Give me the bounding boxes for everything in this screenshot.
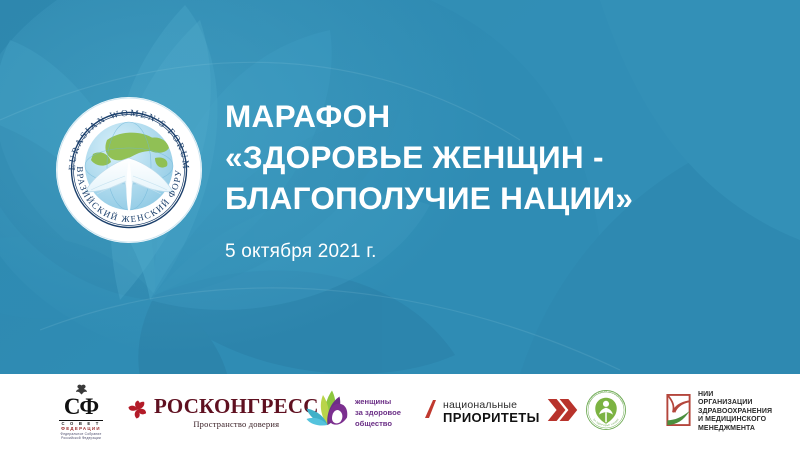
nii-line2: ОРГАНИЗАЦИИ [698, 399, 772, 408]
partner-logo-women-for-healthy-society: женщины за здоровое общество [305, 374, 401, 450]
partner-logo-nii-health-organization: НИИ ОРГАНИЗАЦИИ ЗДРАВООХРАНЕНИЯ И МЕДИЦИ… [665, 374, 772, 450]
partner-logo-national-priorities: национальные ПРИОРИТЕТЫ [425, 374, 579, 450]
red-slash-icon [425, 399, 437, 426]
title-line-3: БЛАГОПОЛУЧИЕ НАЦИИ» [225, 178, 765, 219]
partner-logo-council-of-federation: СФ С О В Е Т ФЕДЕРАЦИИ Федеральное Собра… [42, 374, 120, 450]
partner-logo-green-association: НАЦИОНАЛЬНАЯ АССОЦИАЦИЯ ЗА ЗДОРОВЬЕ НАЦИ… [583, 374, 629, 450]
open-book-leaf-icon [665, 393, 692, 432]
avatar: EURASIAN WOMEN'S FORUM ЕВРАЗИЙСКИЙ ЖЕНСК… [55, 96, 203, 244]
nii-line3: ЗДРАВООХРАНЕНИЯ [698, 408, 772, 417]
hero-background: EURASIAN WOMEN'S FORUM ЕВРАЗИЙСКИЙ ЖЕНСК… [0, 0, 800, 374]
women-society-line1: женщины [355, 396, 401, 407]
partner-logo-bar: СФ С О В Е Т ФЕДЕРАЦИИ Федеральное Собра… [0, 374, 800, 450]
roscongress-title: РОСКОНГРЕСС [154, 394, 319, 418]
green-circular-emblem-icon: НАЦИОНАЛЬНАЯ АССОЦИАЦИЯ ЗА ЗДОРОВЬЕ НАЦИ… [583, 387, 629, 438]
women-society-line2: за здоровое [355, 407, 401, 418]
roscongress-tagline: Пространство доверия [154, 420, 319, 429]
event-date: 5 октября 2021 г. [225, 241, 765, 263]
presentation-slide: EURASIAN WOMEN'S FORUM ЕВРАЗИЙСКИЙ ЖЕНСК… [0, 0, 800, 450]
title-line-1: МАРАФОН [225, 96, 765, 137]
council-of-federation-line2: ФЕДЕРАЦИИ [59, 427, 103, 431]
national-priorities-line2: ПРИОРИТЕТЫ [443, 411, 540, 424]
nii-line5: МЕНЕДЖМЕНТА [698, 425, 772, 434]
nii-line4: И МЕДИЦИНСКОГО [698, 416, 772, 425]
council-of-federation-monogram: СФ [59, 395, 103, 418]
roscongress-pinwheel-icon [128, 400, 147, 424]
council-of-federation-line4: Российской Федерации [59, 437, 103, 440]
eurasian-womens-forum-emblem: EURASIAN WOMEN'S FORUM ЕВРАЗИЙСКИЙ ЖЕНСК… [55, 96, 203, 244]
double-chevron-icon [546, 396, 579, 429]
women-society-line3: общество [355, 418, 401, 429]
partner-logo-roscongress: РОСКОНГРЕСС Пространство доверия [128, 374, 319, 450]
title-line-2: «ЗДОРОВЬЕ ЖЕНЩИН - [225, 137, 765, 178]
nii-line1: НИИ [698, 391, 772, 400]
leaf-petals-icon [305, 389, 350, 436]
page-title: МАРАФОН «ЗДОРОВЬЕ ЖЕНЩИН - БЛАГОПОЛУЧИЕ … [225, 96, 765, 263]
national-priorities-line1: национальные [443, 400, 540, 411]
